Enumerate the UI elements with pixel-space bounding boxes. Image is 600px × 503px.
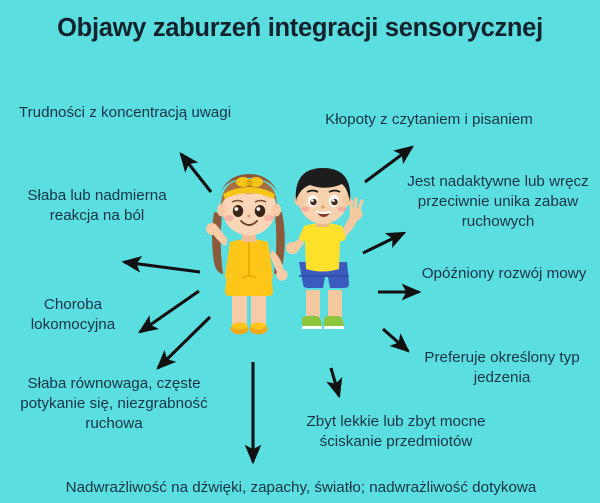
- girl-eye-right: [255, 205, 265, 217]
- label-nadaktywne-unika-zabaw: Jest nadaktywne lub wręcz przeciwnie uni…: [406, 172, 590, 232]
- two-children-illustration: [196, 168, 386, 350]
- label-trudnosci-koncentracja: Trudności z koncentracją uwagi: [10, 103, 240, 123]
- label-slaba-rownowaga: Słaba równowaga, częste potykanie się, n…: [0, 374, 228, 434]
- label-opozniony-rozwoj-mowy: Opóźniony rozwój mowy: [420, 264, 588, 284]
- arrow-to-choroba: [140, 291, 199, 332]
- page-title: Objawy zaburzeń integracji sensorycznej: [0, 14, 600, 42]
- label-slaba-reakcja-bol: Słaba lub nadmierna reakcja na ból: [2, 186, 192, 226]
- arrow-to-slaba-reakcja: [124, 262, 200, 272]
- boy-shirt: [299, 223, 346, 272]
- girl-eye-left: [233, 205, 243, 217]
- girl-hair-bow: [236, 177, 263, 187]
- label-choroba-lokomocyjna: Choroba lokomocyjna: [8, 295, 138, 335]
- arrow-to-sciskanie: [331, 368, 339, 396]
- label-klopoty-czytanie-pisanie: Kłopoty z czytaniem i pisaniem: [294, 110, 564, 130]
- boy-figure: [286, 168, 363, 329]
- label-sciskanie-przedmiotow: Zbyt lekkie lub zbyt mocne ściskanie prz…: [281, 412, 511, 452]
- infographic-poster: Objawy zaburzeń integracji sensorycznej: [0, 0, 600, 503]
- arrow-to-preferuje: [383, 329, 408, 351]
- girl-figure: [206, 174, 288, 334]
- label-nadwrazliwosc: Nadwrażliwość na dźwięki, zapachy, świat…: [12, 478, 590, 498]
- label-preferuje-typ-jedzenia: Preferuje określony typ jedzenia: [412, 348, 592, 388]
